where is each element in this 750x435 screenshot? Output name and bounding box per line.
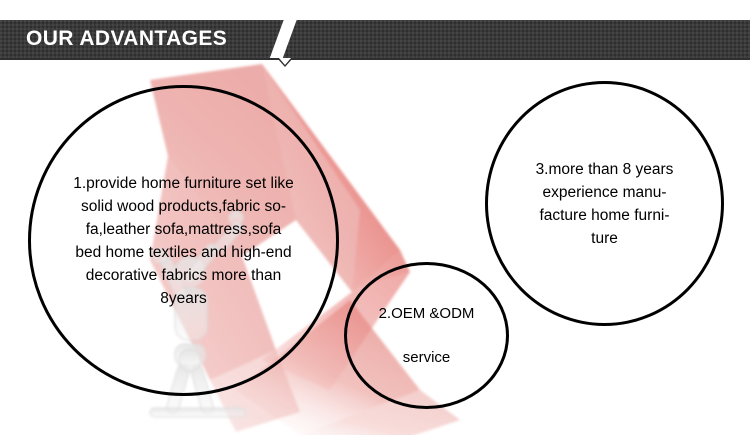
advantages-banner-page: OUR ADVANTAGES 1.provide home furniture … bbox=[0, 0, 750, 435]
header-divider-rule bbox=[0, 58, 750, 60]
diagonal-slash-icon bbox=[266, 20, 299, 58]
advantage-circle-3: 3.more than 8 years experience manu- fac… bbox=[485, 81, 724, 326]
advantage-circle-2: 2.OEM &ODM service bbox=[344, 262, 509, 409]
section-header-banner: OUR ADVANTAGES bbox=[0, 20, 750, 58]
advantage-circle-2-text: 2.OEM &ODM service bbox=[352, 292, 502, 380]
page-title: OUR ADVANTAGES bbox=[26, 27, 227, 51]
down-arrow-notch-inner-icon bbox=[279, 58, 291, 65]
advantage-circle-1: 1.provide home furniture set like solid … bbox=[28, 85, 339, 396]
advantage-circle-1-text: 1.provide home furniture set like solid … bbox=[45, 172, 323, 310]
advantage-circle-3-text: 3.more than 8 years experience manu- fac… bbox=[507, 158, 703, 250]
